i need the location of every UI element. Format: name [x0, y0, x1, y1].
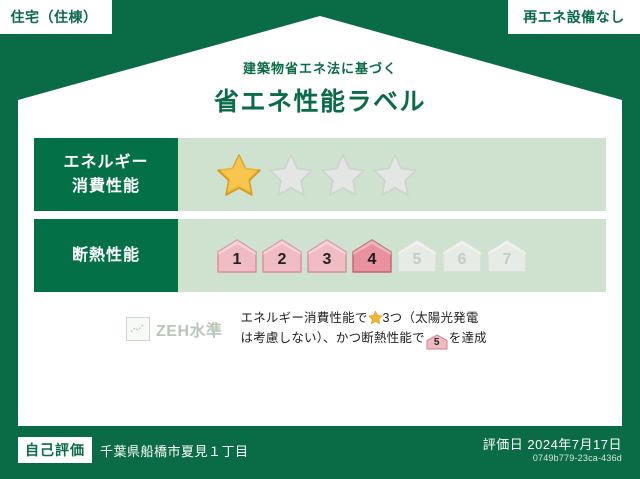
insulation-scale: 1234567: [216, 237, 528, 275]
property-address: 千葉県船橋市夏見１丁目: [100, 441, 249, 460]
label-footer: 自己評価 千葉県船橋市夏見１丁目 評価日 2024年7月17日 0749b779…: [0, 426, 640, 479]
self-evaluation-badge: 自己評価: [18, 437, 92, 463]
row-energy-consumption: エネルギー 消費性能: [34, 138, 606, 211]
metric-rows: エネルギー 消費性能 断熱性能: [34, 138, 606, 300]
page-title: 建築物省エネ法に基づく 省エネ性能ラベル: [18, 58, 622, 118]
star-empty-icon: [268, 152, 314, 198]
star-empty-icon: [372, 152, 418, 198]
row-label-line1: エネルギー: [63, 151, 148, 174]
zeh-badge: ZEH水準: [126, 317, 223, 341]
label-card: 建築物省エネ法に基づく 省エネ性能ラベル エネルギー 消費性能: [18, 16, 622, 426]
title-main: 省エネ性能ラベル: [18, 82, 622, 118]
insulation-level-6: 6: [441, 237, 483, 275]
note-text-part2: は考慮しない）、かつ断熱性能で: [241, 331, 425, 345]
star-filled-icon: [216, 152, 262, 198]
insulation-level-value: 4: [368, 251, 377, 275]
renewable-energy-tag: 再エネ設備なし: [508, 0, 640, 34]
zeh-mark-icon: [126, 317, 150, 341]
building-type-tag: 住宅（住棟）: [0, 0, 112, 34]
title-subtitle: 建築物省エネ法に基づく: [18, 58, 622, 77]
insulation-level-3: 3: [306, 237, 348, 275]
insulation-level-2: 2: [261, 237, 303, 275]
insulation-level-value: 3: [323, 251, 332, 275]
insulation-level-7: 7: [486, 237, 528, 275]
inline-house-badge: 5: [426, 334, 448, 350]
note-star-count: 3つ（太陽光発電: [383, 311, 479, 325]
row-energy-consumption-value: [178, 138, 606, 211]
insulation-level-1: 1: [216, 237, 258, 275]
energy-performance-label: 住宅（住棟） 再エネ設備なし 建築物省エネ法に基づく 省エネ性能ラベル エネルギ…: [0, 0, 640, 479]
note-text-part1: エネルギー消費性能で: [241, 311, 368, 325]
row-insulation-value: 1234567: [178, 219, 606, 292]
insulation-level-value: 2: [278, 251, 287, 275]
row-label-line1: 断熱性能: [72, 244, 140, 267]
insulation-level-value: 1: [233, 251, 242, 275]
insulation-level-value: 7: [503, 251, 512, 275]
evaluation-id: 0749b779-23ca-436d: [533, 453, 622, 463]
inline-house-value: 5: [426, 334, 448, 351]
row-label-line2: 消費性能: [63, 175, 148, 198]
note-text-part3: を達成: [449, 331, 487, 345]
inline-star-icon: [368, 310, 383, 325]
insulation-level-5: 5: [396, 237, 438, 275]
row-insulation: 断熱性能 1234567: [34, 219, 606, 292]
zeh-note: ZEH水準 エネルギー消費性能で3つ（太陽光発電 は考慮しない）、かつ断熱性能で…: [18, 308, 622, 350]
row-energy-consumption-label: エネルギー 消費性能: [34, 138, 178, 211]
star-rating: [216, 152, 418, 198]
zeh-description: エネルギー消費性能で3つ（太陽光発電 は考慮しない）、かつ断熱性能で5を達成: [241, 308, 487, 350]
insulation-level-value: 6: [458, 251, 467, 275]
evaluation-date: 評価日 2024年7月17日: [483, 434, 622, 453]
insulation-level-value: 5: [413, 251, 422, 275]
row-insulation-label: 断熱性能: [34, 219, 178, 292]
star-empty-icon: [320, 152, 366, 198]
insulation-level-4: 4: [351, 237, 393, 275]
zeh-label: ZEH水準: [156, 317, 223, 341]
